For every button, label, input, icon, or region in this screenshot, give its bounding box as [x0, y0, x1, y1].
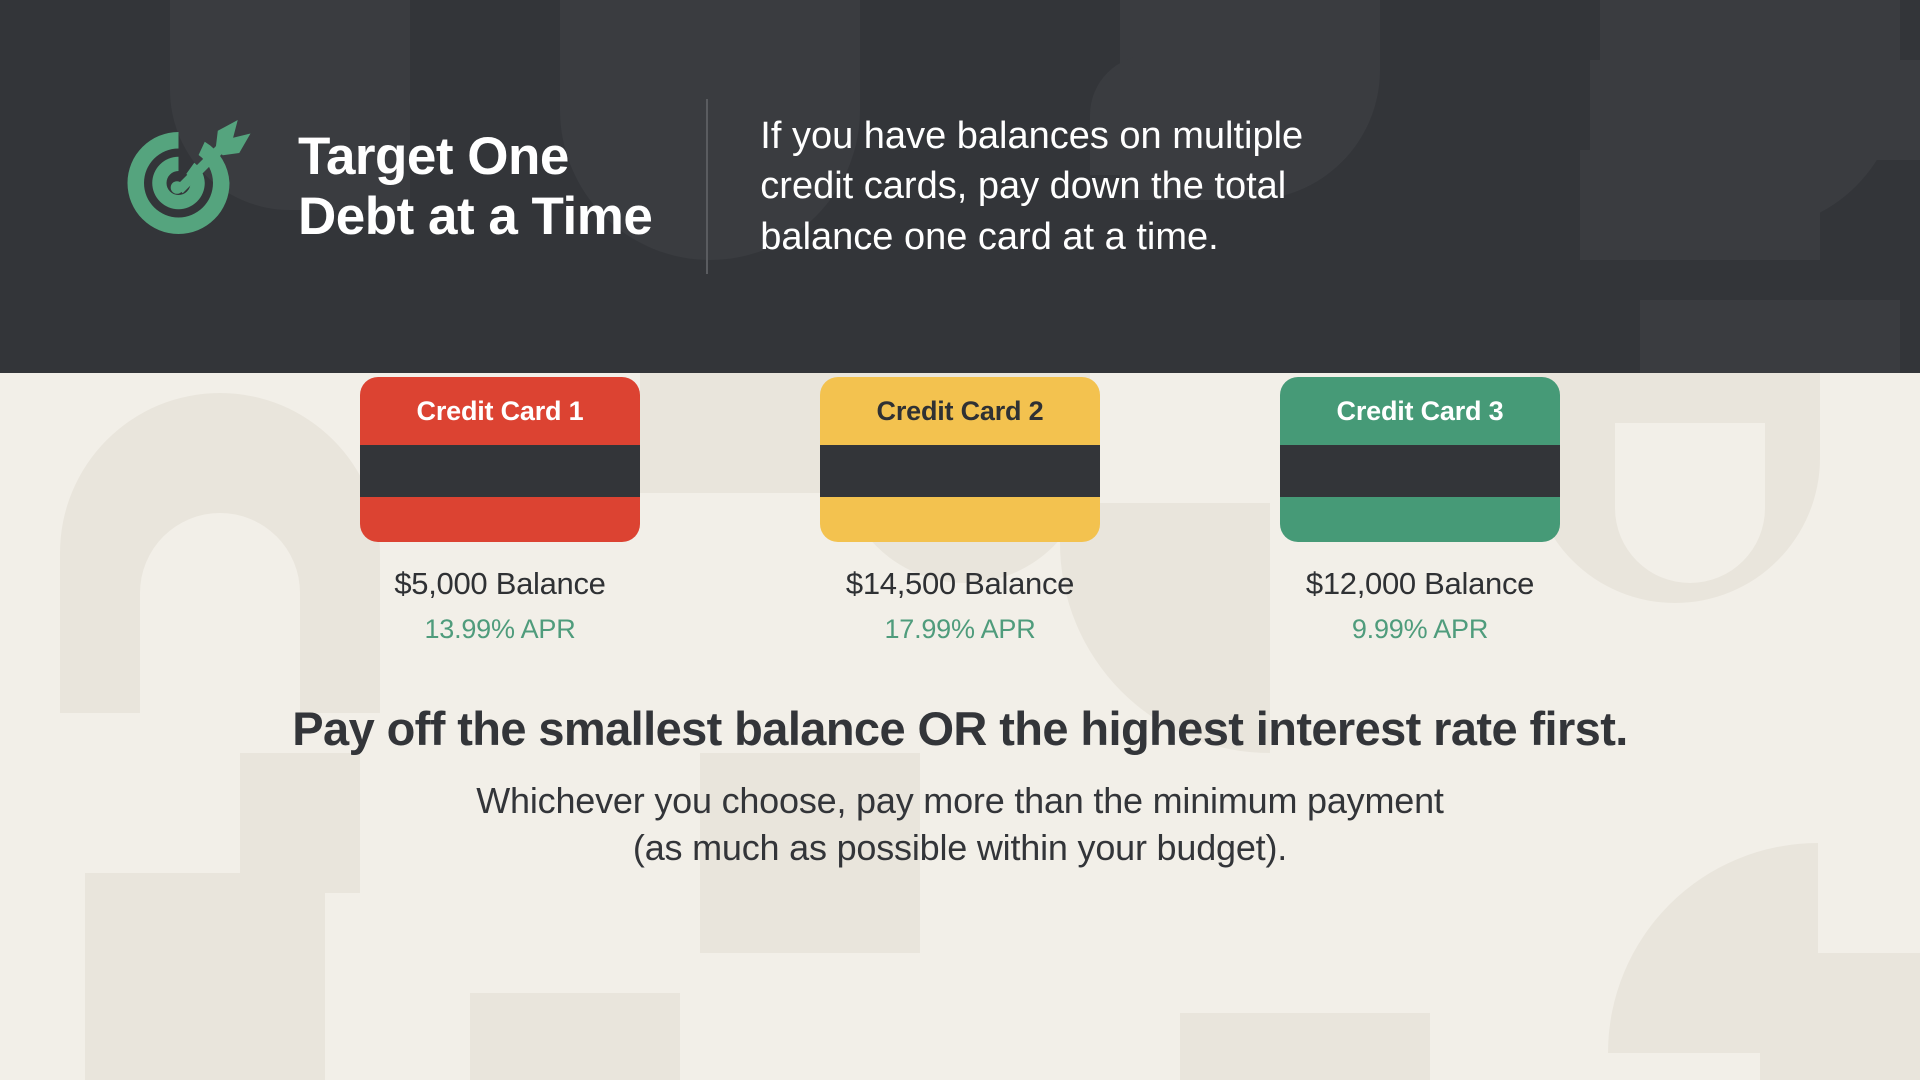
- credit-card-graphic-1[interactable]: Credit Card 1: [360, 377, 640, 542]
- header-content: Target One Debt at a Time If you have ba…: [0, 0, 1920, 373]
- description-line-1: If you have balances on multiple: [760, 111, 1303, 162]
- credit-card-graphic-3[interactable]: Credit Card 3: [1280, 377, 1560, 542]
- credit-card-bottom-2: [820, 497, 1100, 542]
- footer-subtext: Whichever you choose, pay more than the …: [0, 778, 1920, 872]
- body-section: Credit Card 1 $5,000 Balance 13.99% APR …: [0, 373, 1920, 1080]
- credit-card-label-3: Credit Card 3: [1337, 396, 1504, 427]
- credit-card-apr-3: 9.99% APR: [1280, 614, 1560, 645]
- credit-card-balance-1: $5,000 Balance: [360, 566, 640, 602]
- description-line-3: balance one card at a time.: [760, 212, 1303, 263]
- credit-card-balance-3: $12,000 Balance: [1280, 566, 1560, 602]
- magnetic-stripe-3: [1280, 445, 1560, 497]
- credit-card-apr-2: 17.99% APR: [820, 614, 1100, 645]
- credit-card-bottom-1: [360, 497, 640, 542]
- background-decoration-quarter: [1608, 843, 1818, 1053]
- footer-subtext-line-2: (as much as possible within your budget)…: [0, 825, 1920, 872]
- credit-cards-row: Credit Card 1 $5,000 Balance 13.99% APR …: [0, 373, 1920, 645]
- title-line-2: Debt at a Time: [298, 187, 652, 247]
- credit-card-top-1: Credit Card 1: [360, 377, 640, 445]
- credit-card-label-1: Credit Card 1: [417, 396, 584, 427]
- credit-card-item: Credit Card 1 $5,000 Balance 13.99% APR: [360, 377, 640, 645]
- footer-message: Pay off the smallest balance OR the high…: [0, 701, 1920, 872]
- credit-card-label-2: Credit Card 2: [877, 396, 1044, 427]
- credit-card-item: Credit Card 2 $14,500 Balance 17.99% APR: [820, 377, 1100, 645]
- header-title: Target One Debt at a Time: [298, 127, 652, 247]
- header-divider: [706, 99, 708, 274]
- target-with-arrow-icon: [108, 108, 258, 258]
- credit-card-apr-1: 13.99% APR: [360, 614, 640, 645]
- credit-card-top-3: Credit Card 3: [1280, 377, 1560, 445]
- credit-card-item: Credit Card 3 $12,000 Balance 9.99% APR: [1280, 377, 1560, 645]
- background-decoration-square: [1180, 1013, 1430, 1080]
- credit-card-bottom-3: [1280, 497, 1560, 542]
- footer-subtext-line-1: Whichever you choose, pay more than the …: [0, 778, 1920, 825]
- background-decoration-square: [1760, 953, 1920, 1080]
- header-description: If you have balances on multiple credit …: [760, 111, 1303, 263]
- background-decoration-square: [470, 993, 680, 1080]
- credit-card-top-2: Credit Card 2: [820, 377, 1100, 445]
- background-decoration-square: [85, 873, 325, 1080]
- magnetic-stripe-1: [360, 445, 640, 497]
- credit-card-graphic-2[interactable]: Credit Card 2: [820, 377, 1100, 542]
- footer-headline: Pay off the smallest balance OR the high…: [0, 701, 1920, 756]
- credit-card-balance-2: $14,500 Balance: [820, 566, 1100, 602]
- infographic-page: Target One Debt at a Time If you have ba…: [0, 0, 1920, 1080]
- title-line-1: Target One: [298, 127, 652, 187]
- description-line-2: credit cards, pay down the total: [760, 161, 1303, 212]
- header-banner: Target One Debt at a Time If you have ba…: [0, 0, 1920, 373]
- magnetic-stripe-2: [820, 445, 1100, 497]
